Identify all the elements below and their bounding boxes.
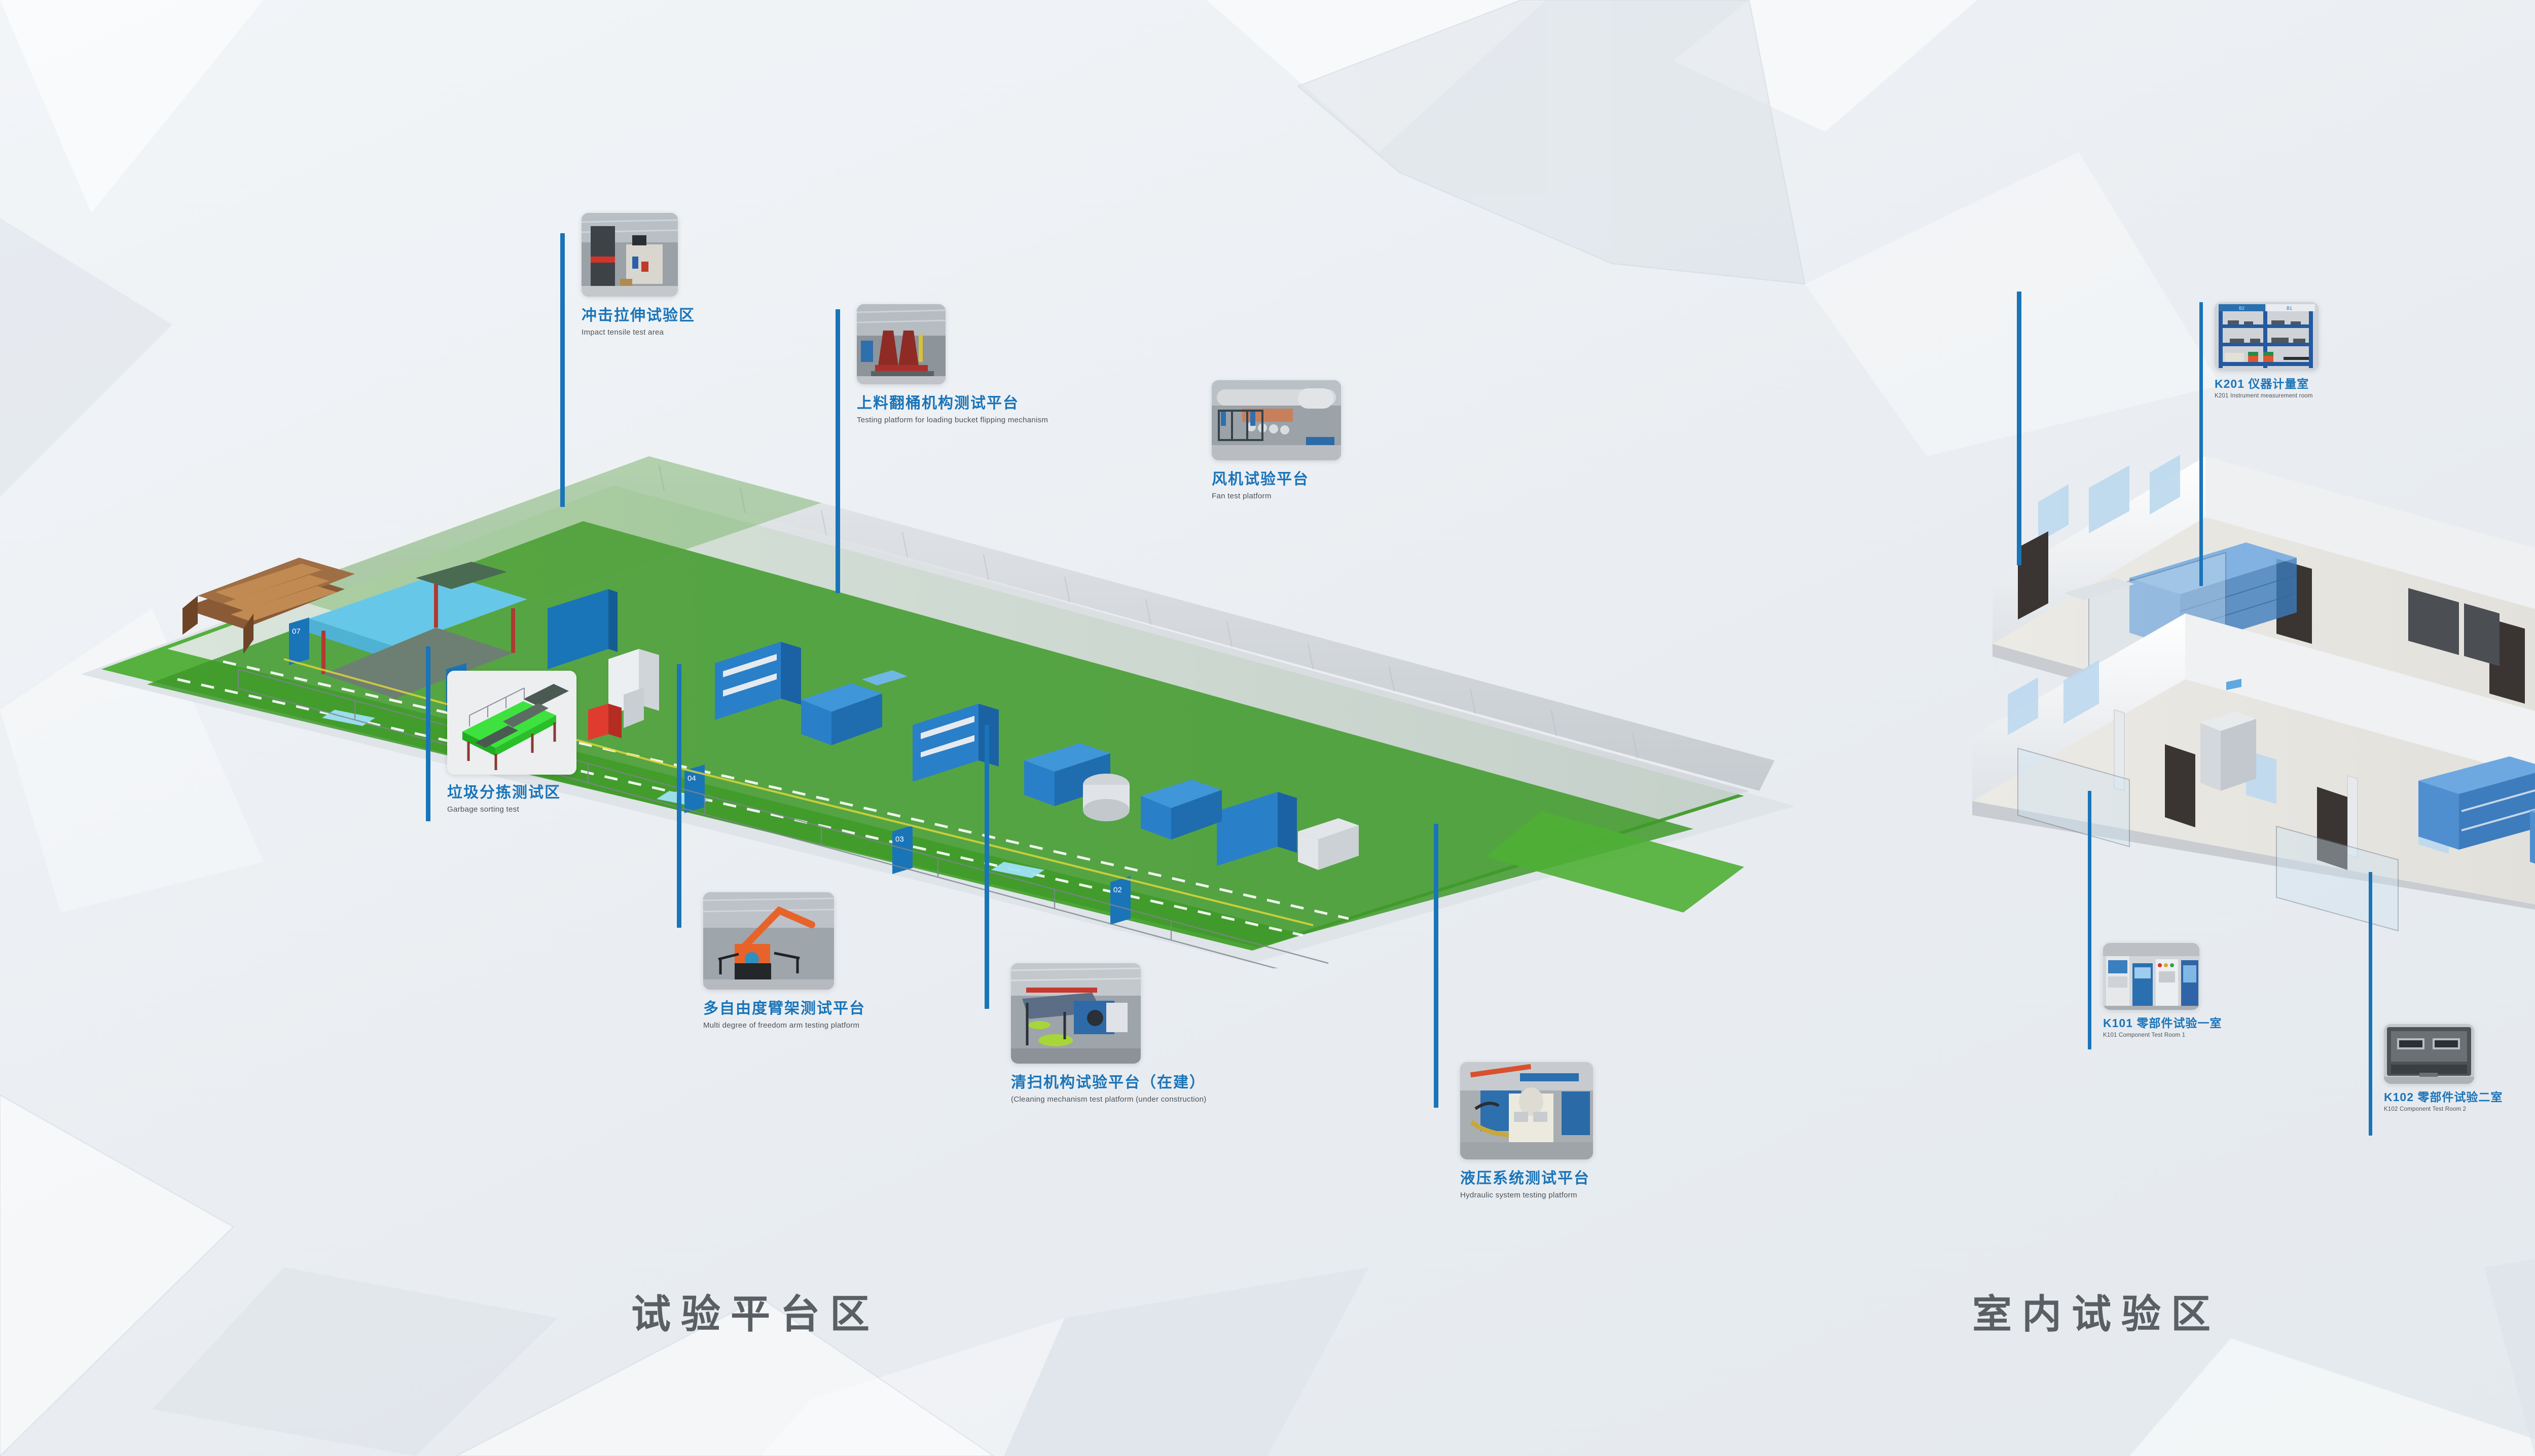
callout-title-cn: 多自由度臂架测试平台	[703, 1001, 865, 1017]
section-title-outdoor: 试验平台区	[631, 1283, 880, 1339]
callout-title-en: Testing platform for loading bucket flip…	[857, 416, 1048, 425]
callout-title-cn: 垃圾分拣测试区	[447, 785, 576, 801]
callout-thumbnail	[1011, 963, 1141, 1064]
leader-line	[560, 233, 565, 507]
callout-title-cn: K201 仪器计量室	[2215, 378, 2319, 390]
callout-title-en: Fan test platform	[1212, 492, 1341, 501]
callout-thumbnail	[447, 671, 576, 775]
callout-title-en: Hydraulic system testing platform	[1460, 1191, 1593, 1200]
svg-text:B1: B1	[2287, 306, 2292, 311]
callout-thumbnail	[2103, 943, 2199, 1010]
leader-line	[2369, 872, 2372, 1136]
callout-thumbnail	[2384, 1024, 2474, 1084]
callout-title-en: K201 Instrument measurement room	[2215, 393, 2319, 399]
callout-title-en: K102 Component Test Room 2	[2384, 1106, 2503, 1113]
callout-thumbnail: B2 B1	[2215, 302, 2319, 371]
callout-title-en: Garbage sorting test	[447, 806, 576, 814]
leader-line	[677, 664, 681, 928]
callout-title-cn: 上料翻桶机构测试平台	[857, 395, 1048, 412]
leader-line	[985, 725, 989, 1009]
svg-text:04: 04	[687, 774, 696, 783]
callout-title-en: (Cleaning mechanism test platform (under…	[1011, 1096, 1207, 1104]
callout-title-en: Impact tensile test area	[582, 329, 695, 337]
callout-thumbnail	[857, 304, 946, 384]
leader-line	[2088, 791, 2091, 1049]
leader-line	[1434, 824, 1438, 1108]
svg-text:02: 02	[1113, 886, 1122, 894]
callout-thumbnail	[1460, 1062, 1593, 1159]
callout-thumbnail	[1212, 380, 1341, 460]
leader-line-fan	[2017, 292, 2021, 565]
leader-line	[426, 646, 430, 821]
leader-line	[2199, 302, 2203, 586]
callout-title-cn: K101 零部件试验一室	[2103, 1017, 2222, 1029]
svg-text:B2: B2	[2239, 306, 2244, 311]
callout-title-en: K101 Component Test Room 1	[2103, 1032, 2222, 1039]
outdoor-test-area-3d-scene: 07 06 05 04 03 02	[71, 456, 1805, 968]
callout-title-cn: 冲击拉伸试验区	[582, 308, 695, 324]
section-title-indoor: 室内试验区	[1972, 1283, 2221, 1339]
callout-thumbnail	[582, 213, 678, 297]
svg-text:03: 03	[895, 835, 904, 844]
svg-text:07: 07	[292, 627, 301, 636]
callout-title-cn: 液压系统测试平台	[1460, 1171, 1593, 1187]
callout-title-cn: 清扫机构试验平台（在建）	[1011, 1075, 1207, 1091]
indoor-lab-3d-scene	[1962, 426, 2535, 963]
leader-line	[836, 309, 840, 593]
callout-title-cn: 风机试验平台	[1212, 471, 1341, 488]
callout-title-cn: K102 零部件试验二室	[2384, 1091, 2503, 1103]
callout-title-en: Multi degree of freedom arm testing plat…	[703, 1022, 865, 1030]
callout-thumbnail	[703, 892, 834, 990]
